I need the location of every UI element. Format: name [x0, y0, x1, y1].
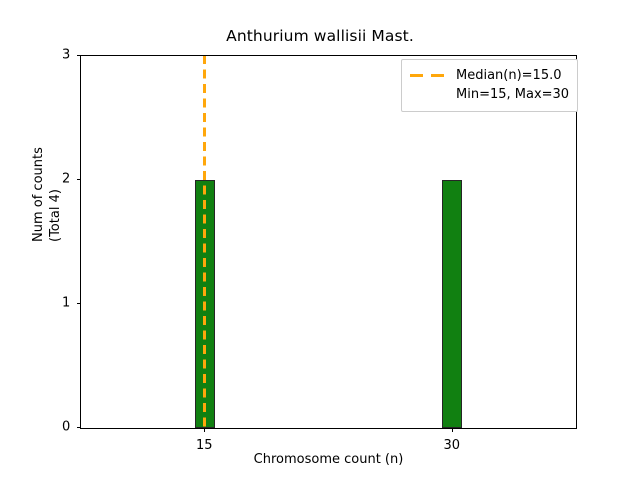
blank-swatch-icon: [410, 89, 446, 100]
median-line: [203, 56, 206, 428]
ytick-3: 3: [77, 55, 81, 56]
dashed-line-icon: [410, 70, 446, 81]
xtick-label-30: 30: [443, 438, 460, 453]
ytick-1: 1: [77, 303, 81, 304]
ytick-label-1: 1: [62, 296, 70, 311]
legend-label-minmax: Min=15, Max=30: [456, 87, 569, 102]
bar-30[interactable]: [442, 180, 462, 428]
xtick-30: 30: [452, 428, 453, 432]
ytick-label-2: 2: [62, 172, 70, 187]
legend-entry-minmax: Min=15, Max=30: [410, 85, 569, 104]
ytick-label-0: 0: [62, 420, 70, 435]
xtick-15: 15: [204, 428, 205, 432]
ytick-0: 0: [77, 427, 81, 428]
ytick-2: 2: [77, 179, 81, 180]
ytick-label-3: 3: [62, 48, 70, 63]
y-axis-label-total: (Total 4): [48, 189, 63, 242]
plot-axes: 0 1 2 3 15 30 Median(n)=15.0 Min=15, Max…: [80, 55, 577, 429]
legend-entry-median: Median(n)=15.0: [410, 66, 569, 85]
xtick-label-15: 15: [196, 438, 213, 453]
x-axis-label: Chromosome count (n): [80, 452, 577, 467]
legend-label-median: Median(n)=15.0: [456, 68, 562, 83]
chart-title: Anthurium wallisii Mast.: [0, 27, 640, 45]
y-axis-label: Num of counts: [31, 147, 46, 242]
figure-canvas: Anthurium wallisii Mast. 0 1 2 3 15 3: [0, 0, 640, 480]
legend-box[interactable]: Median(n)=15.0 Min=15, Max=30: [401, 59, 578, 112]
